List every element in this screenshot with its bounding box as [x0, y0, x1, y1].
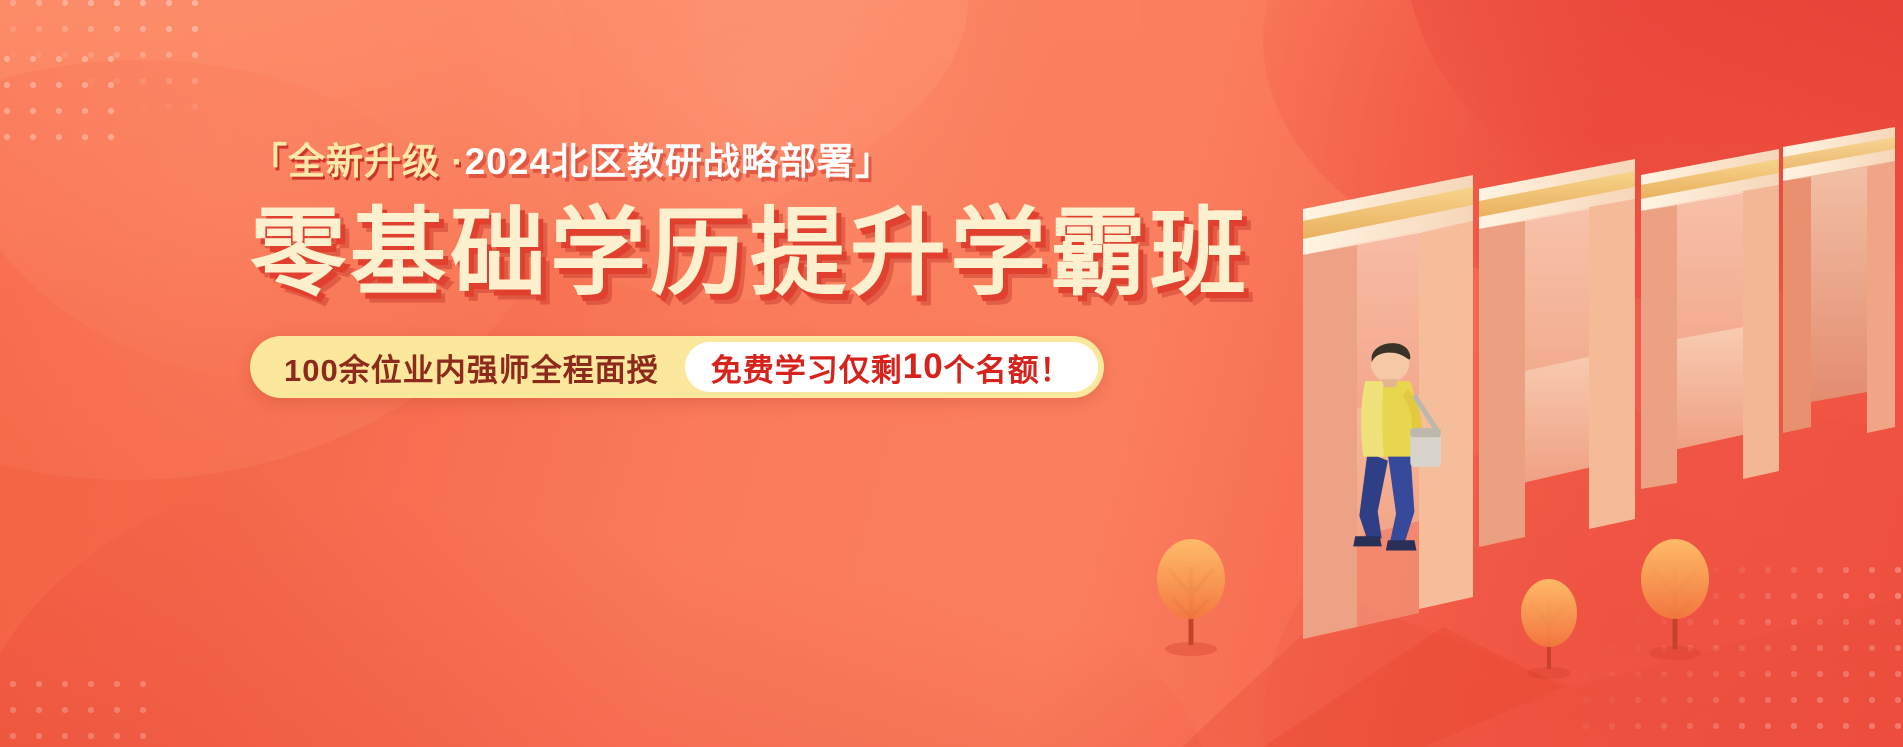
banner-pill-row: 100余位业内强师全程面授 免费学习仅剩10个名额！: [250, 336, 1230, 398]
book-arch-3: [1641, 149, 1779, 489]
pill-feature-label: 100余位业内强师全程面授: [250, 345, 685, 390]
book-arch-2: [1479, 159, 1635, 547]
subtitle-bracket-close: 」: [855, 140, 893, 184]
pill-offer-count: 10: [903, 347, 944, 387]
pill-offer-suffix: 个名额！: [944, 345, 1072, 390]
tree-right-large: [1641, 539, 1709, 660]
dot-pattern-bottom-left: [0, 671, 150, 747]
subtitle-rest: 2024北区教研战略部署: [465, 140, 855, 184]
dot-pattern-top-left: [0, 0, 200, 110]
dot-pattern-left: [0, 46, 114, 156]
subtitle-bracket-open: 「: [250, 140, 288, 184]
background-blob-bottom: [0, 457, 1210, 747]
tree-left: [1157, 539, 1225, 656]
subtitle-highlight: 全新升级 ·: [288, 140, 465, 184]
banner-text-block: 「 全新升级 · 2024北区教研战略部署 」 零基础学历提升学霸班 100余位…: [250, 140, 1230, 398]
promo-banner: 「 全新升级 · 2024北区教研战略部署 」 零基础学历提升学霸班 100余位…: [0, 0, 1903, 747]
pill-offer-prefix: 免费学习仅剩: [711, 345, 903, 390]
book-arch-illustration: [1143, 127, 1903, 747]
book-arch-4: [1783, 127, 1895, 433]
banner-subtitle: 「 全新升级 · 2024北区教研战略部署 」: [250, 140, 1230, 184]
tree-right-small: [1521, 579, 1577, 679]
feature-pill-group: 100余位业内强师全程面授 免费学习仅剩10个名额！: [250, 336, 1104, 398]
pill-offer-badge[interactable]: 免费学习仅剩10个名额！: [685, 342, 1098, 392]
page-title: 零基础学历提升学霸班: [250, 202, 1230, 306]
